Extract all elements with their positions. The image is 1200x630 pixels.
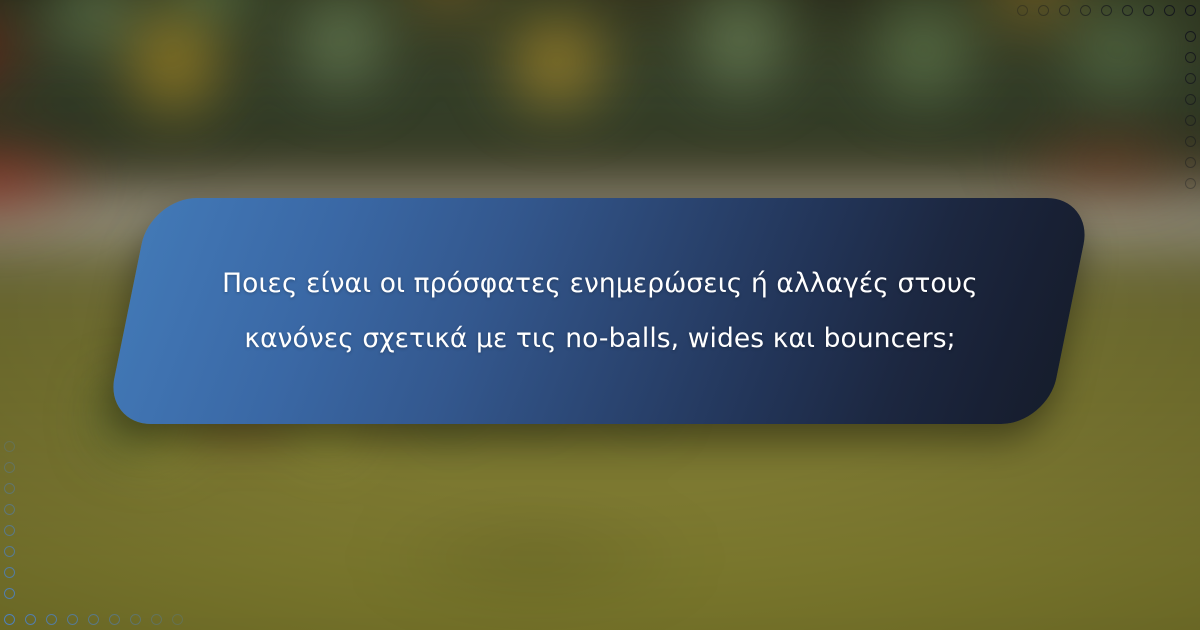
quote-line-2: κανόνες σχετικά με τις no-balls, wides κ…: [244, 314, 955, 363]
dot-grid-dot: [4, 588, 15, 599]
dot-grid-dot: [46, 614, 57, 625]
dot-grid-dot: [4, 462, 15, 473]
dot-grid-dot: [4, 546, 15, 557]
dot-grid-dot: [4, 525, 15, 536]
quote-text-block: Ποιες είναι οι πρόσφατες ενημερώσεις ή α…: [150, 198, 1050, 424]
dot-grid-dot: [4, 504, 15, 515]
dot-grid-dot: [67, 614, 78, 625]
dot-grid-dot: [151, 614, 162, 625]
dot-grid-dot: [109, 614, 120, 625]
dot-grid-dot: [25, 614, 36, 625]
dot-grid-dot: [130, 614, 141, 625]
quote-line-1: Ποιες είναι οι πρόσφατες ενημερώσεις ή α…: [222, 259, 978, 308]
dot-grid-dot: [4, 483, 15, 494]
dot-grid-dot: [4, 441, 15, 452]
dot-grid-dot: [88, 614, 99, 625]
dot-grid-dot: [4, 567, 15, 578]
quote-card-canvas: Ποιες είναι οι πρόσφατες ενημερώσεις ή α…: [0, 0, 1200, 630]
dot-grid-dot: [4, 614, 15, 625]
dot-grid-dot: [172, 614, 183, 625]
